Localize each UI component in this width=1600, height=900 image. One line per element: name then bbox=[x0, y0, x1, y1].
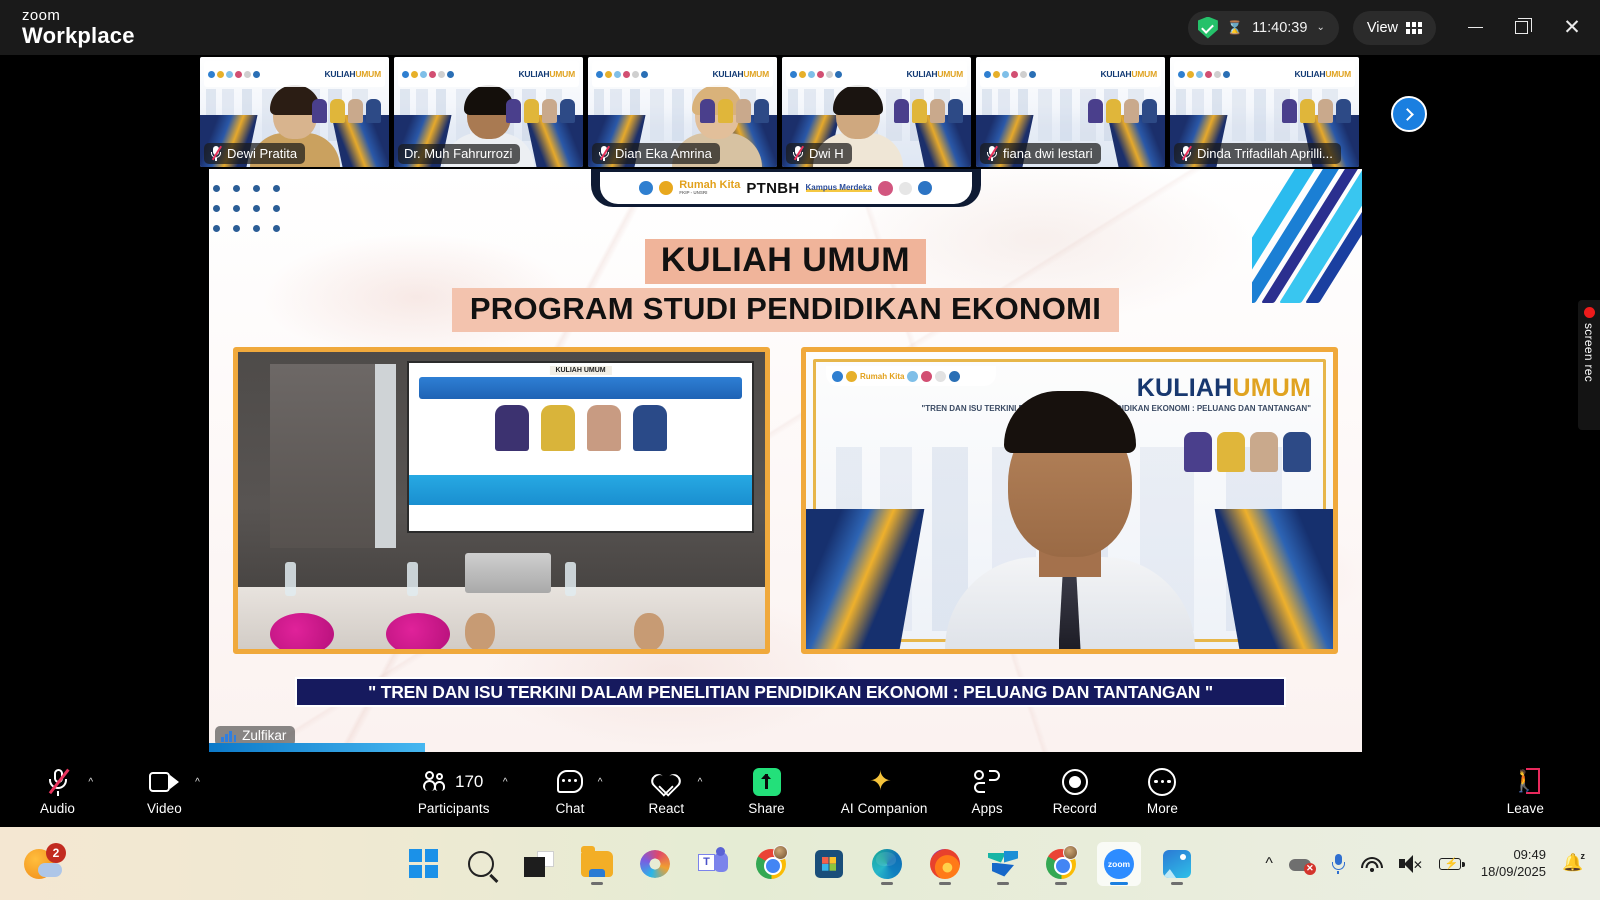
microphone-icon[interactable] bbox=[1331, 854, 1345, 874]
onedrive-error-icon[interactable]: ✕ bbox=[1289, 855, 1315, 873]
tutwuri-logo bbox=[639, 181, 653, 195]
unsri-logo bbox=[659, 181, 673, 195]
microsoft-store-button[interactable] bbox=[807, 842, 851, 886]
shared-screen-content[interactable]: Rumah Kita FKIP - UNSRI PTNBH Kampus Mer… bbox=[209, 169, 1362, 752]
screenrec-label: screen rec bbox=[1582, 323, 1596, 382]
react-options-chevron-icon[interactable]: ^ bbox=[698, 777, 703, 788]
speaker-portraits bbox=[700, 99, 769, 123]
camera-icon[interactable] bbox=[149, 767, 179, 797]
presenter-name: Zulfikar bbox=[242, 728, 286, 743]
speaker-person bbox=[940, 409, 1200, 649]
speaker-video-panel: Rumah Kita KULIAHUMUM "TREN DAN ISU TERK… bbox=[801, 347, 1338, 654]
sparkle-icon[interactable]: ✦ bbox=[869, 767, 899, 797]
slide-title-line2: PROGRAM STUDI PENDIDIKAN EKONOMI bbox=[452, 288, 1119, 332]
notification-bell-dnd-icon[interactable]: 🔔z bbox=[1562, 853, 1584, 875]
accreditation-logo bbox=[899, 182, 912, 195]
record-label: Record bbox=[1053, 801, 1097, 816]
folder-icon bbox=[581, 851, 613, 877]
dot-grid-decoration bbox=[213, 185, 293, 245]
meeting-status-pill[interactable]: ⌛ 11:40:39 ⌄ bbox=[1188, 11, 1339, 45]
speaker-portraits bbox=[1088, 99, 1157, 123]
copilot-button[interactable] bbox=[633, 842, 677, 886]
background-banner: KULIAHUMUM bbox=[204, 61, 385, 87]
ai-companion-button[interactable]: ✦ AI Companion bbox=[841, 755, 928, 827]
clock-time: 09:49 bbox=[1481, 847, 1546, 863]
photos-button[interactable] bbox=[1155, 842, 1199, 886]
flower-decoration bbox=[270, 613, 334, 654]
meeting-timer: 11:40:39 bbox=[1252, 20, 1307, 36]
participant-tile[interactable]: KULIAHUMUM fiana dwi lestari bbox=[976, 57, 1165, 167]
view-label: View bbox=[1367, 20, 1398, 36]
microphone-muted-icon bbox=[986, 145, 998, 161]
copilot-icon bbox=[640, 850, 670, 878]
chevron-right-icon bbox=[1401, 108, 1414, 121]
projector-screen: KULIAH UMUM bbox=[407, 361, 755, 533]
projector-header: KULIAH UMUM bbox=[549, 366, 611, 375]
title-bar: zoom Workplace ⌛ 11:40:39 ⌄ View ✕ bbox=[0, 0, 1600, 55]
chat-button[interactable]: Chat ^ bbox=[556, 755, 585, 827]
video-options-chevron-icon[interactable]: ^ bbox=[195, 777, 200, 788]
chat-options-chevron-icon[interactable]: ^ bbox=[598, 777, 603, 788]
filmstrip-next-page-button[interactable] bbox=[1391, 96, 1427, 132]
participant-name: Dr. Muh Fahrurrozi bbox=[404, 146, 512, 161]
ptnbh-label: PTNBH bbox=[746, 180, 799, 197]
more-button[interactable]: More bbox=[1147, 755, 1178, 827]
chrome-icon bbox=[756, 849, 786, 879]
meeting-toolbar: Audio ^ Video ^ 170 Participants ^ Chat … bbox=[0, 755, 1600, 827]
file-explorer-button[interactable] bbox=[575, 842, 619, 886]
chrome-button-1[interactable] bbox=[749, 842, 793, 886]
windows-logo-icon bbox=[409, 849, 438, 878]
record-icon[interactable] bbox=[1062, 767, 1088, 797]
firefox-button[interactable] bbox=[923, 842, 967, 886]
participants-button[interactable]: 170 Participants ^ bbox=[418, 755, 490, 827]
speaker-portraits bbox=[1184, 432, 1311, 472]
participant-filmstrip: KULIAHUMUM Dewi Pratita KULIAHUMUM bbox=[200, 57, 1373, 167]
participant-name-badge: Dinda Trifadilah Aprilli... bbox=[1174, 143, 1341, 164]
system-tray: ^ ✕ ✕ ⚡ 09:49 18/09/2025 🔔z bbox=[1265, 847, 1584, 880]
brand-workplace: Workplace bbox=[22, 24, 135, 47]
search-icon bbox=[468, 851, 494, 877]
search-button[interactable] bbox=[459, 842, 503, 886]
participant-name-badge: Dr. Muh Fahrurrozi bbox=[398, 144, 520, 164]
leave-button[interactable]: 🚶 Leave bbox=[1507, 755, 1544, 827]
onedrive-error-badge: ✕ bbox=[1304, 863, 1316, 875]
video-button[interactable]: Video ^ bbox=[147, 755, 182, 827]
slide-quote-text: " TREN DAN ISU TERKINI DALAM PENELITIAN … bbox=[368, 682, 1213, 703]
hourglass-icon: ⌛ bbox=[1227, 20, 1243, 36]
microphone-muted-icon bbox=[1180, 145, 1192, 161]
participant-name: Dinda Trifadilah Aprilli... bbox=[1197, 146, 1333, 161]
flower-decoration bbox=[386, 613, 450, 654]
participant-name: Dian Eka Amrina bbox=[615, 146, 712, 161]
start-button[interactable] bbox=[401, 842, 445, 886]
wifi-icon[interactable] bbox=[1361, 855, 1383, 872]
clock[interactable]: 09:49 18/09/2025 bbox=[1481, 847, 1546, 880]
background-banner: KULIAHUMUM bbox=[786, 61, 967, 87]
record-dot-icon bbox=[1584, 307, 1595, 318]
shield-check-icon[interactable] bbox=[1198, 17, 1218, 39]
people-icon bbox=[424, 771, 448, 793]
ellipsis-icon[interactable] bbox=[1148, 767, 1176, 797]
participant-name: Dewi Pratita bbox=[227, 146, 297, 161]
chat-bubble-icon[interactable] bbox=[557, 767, 583, 797]
participant-name-badge: fiana dwi lestari bbox=[980, 143, 1101, 164]
quality-logo bbox=[878, 181, 893, 196]
record-button[interactable]: Record bbox=[1053, 755, 1097, 827]
participant-name: Dwi H bbox=[809, 146, 844, 161]
audio-bars-icon bbox=[221, 730, 236, 742]
microsoft-store-icon bbox=[815, 850, 843, 878]
leave-label: Leave bbox=[1507, 801, 1544, 816]
close-button[interactable]: ✕ bbox=[1544, 0, 1600, 55]
participants-options-chevron-icon[interactable]: ^ bbox=[503, 777, 508, 788]
firefox-icon bbox=[930, 849, 960, 879]
speaker-portraits bbox=[506, 99, 575, 123]
umum-text: UMUM bbox=[1232, 374, 1311, 402]
apps-label: Apps bbox=[972, 801, 1003, 816]
apps-icon[interactable] bbox=[973, 767, 1001, 797]
react-button[interactable]: React ^ bbox=[648, 755, 684, 827]
zoom-taskbar-button[interactable]: zoom bbox=[1097, 842, 1141, 886]
participant-tile[interactable]: KULIAHUMUM Dr. Muh Fahrurrozi bbox=[394, 57, 583, 167]
participants-label: Participants bbox=[418, 801, 490, 816]
participant-name-badge: Dewi Pratita bbox=[204, 143, 305, 164]
kuliah-text: KULIAH bbox=[1137, 374, 1233, 402]
microphone-muted-icon bbox=[210, 145, 222, 161]
clock-date: 18/09/2025 bbox=[1481, 864, 1546, 880]
avatar bbox=[1063, 845, 1078, 860]
view-button[interactable]: View bbox=[1353, 11, 1436, 45]
chevron-down-icon[interactable]: ⌄ bbox=[1316, 22, 1324, 33]
avatar bbox=[773, 845, 788, 860]
slide-panels: KULIAH UMUM bbox=[233, 347, 1338, 654]
battery-charging-icon[interactable]: ⚡ bbox=[1439, 856, 1465, 872]
grid-layout-icon[interactable] bbox=[1406, 22, 1422, 34]
leave-door-icon[interactable]: 🚶 bbox=[1510, 767, 1540, 797]
weather-badge: 2 bbox=[46, 843, 66, 863]
chrome-button-2[interactable] bbox=[1039, 842, 1083, 886]
microphone-muted-icon bbox=[792, 145, 804, 161]
speaker-muted-icon[interactable]: ✕ bbox=[1399, 855, 1423, 873]
kampus-merdeka-logo: Kampus Merdeka bbox=[806, 184, 872, 192]
zoom-icon: zoom bbox=[1104, 849, 1134, 879]
share-label: Share bbox=[748, 801, 785, 816]
microphone-muted-icon bbox=[598, 145, 610, 161]
rumah-kita-logo: Rumah Kita FKIP - UNSRI bbox=[679, 181, 740, 195]
title-bar-right: ⌛ 11:40:39 ⌄ View ✕ bbox=[1188, 0, 1600, 55]
speaker-portraits bbox=[312, 99, 381, 123]
teams-icon: T bbox=[698, 850, 728, 878]
maximize-button[interactable] bbox=[1498, 0, 1544, 55]
blue-app-button[interactable] bbox=[981, 842, 1025, 886]
audio-options-chevron-icon[interactable]: ^ bbox=[88, 777, 93, 788]
chrome-icon bbox=[1046, 849, 1076, 879]
teams-letter: T bbox=[698, 854, 715, 871]
zoom-logo: zoom Workplace bbox=[0, 8, 135, 47]
slide-title: KULIAH UMUM PROGRAM STUDI PENDIDIKAN EKO… bbox=[209, 239, 1362, 332]
teams-button[interactable]: T bbox=[691, 842, 735, 886]
speaker-portraits bbox=[1282, 99, 1351, 123]
background-banner: KULIAHUMUM bbox=[398, 61, 579, 87]
participant-tile[interactable]: KULIAHUMUM Dwi H bbox=[782, 57, 971, 167]
participant-tile[interactable]: KULIAHUMUM Dinda Trifadilah Aprilli... bbox=[1170, 57, 1359, 167]
share-button[interactable]: Share bbox=[748, 755, 785, 827]
windows-taskbar: 2 T bbox=[0, 827, 1600, 900]
background-banner: KULIAHUMUM bbox=[1174, 61, 1355, 87]
heart-icon[interactable] bbox=[654, 767, 678, 797]
edge-button[interactable] bbox=[865, 842, 909, 886]
room-photo: KULIAH UMUM bbox=[238, 352, 765, 649]
participant-tile[interactable]: KULIAHUMUM Dian Eka Amrina bbox=[588, 57, 777, 167]
room-photo-panel: KULIAH UMUM bbox=[233, 347, 770, 654]
edge-icon bbox=[872, 849, 902, 879]
laptop bbox=[465, 553, 551, 593]
screen-share-edge-highlight bbox=[209, 743, 425, 752]
institution-logo-bar: Rumah Kita FKIP - UNSRI PTNBH Kampus Mer… bbox=[591, 169, 981, 207]
photos-icon bbox=[1163, 850, 1191, 878]
brand-zoom: zoom bbox=[22, 8, 135, 24]
more-label: More bbox=[1147, 801, 1178, 816]
rumah-kita-label: Rumah Kita bbox=[860, 372, 904, 381]
task-view-button[interactable] bbox=[517, 842, 561, 886]
speaker-portraits bbox=[894, 99, 963, 123]
background-banner: KULIAHUMUM bbox=[592, 61, 773, 87]
background-banner: KULIAHUMUM bbox=[980, 61, 1161, 87]
weather-widget[interactable]: 2 bbox=[24, 849, 54, 879]
ai-companion-label: AI Companion bbox=[841, 801, 928, 816]
video-label: Video bbox=[147, 801, 182, 816]
participant-name-badge: Dwi H bbox=[786, 143, 852, 164]
slide-title-line1: KULIAH UMUM bbox=[645, 239, 926, 284]
microphone-muted-icon[interactable] bbox=[47, 767, 69, 797]
share-screen-icon[interactable] bbox=[753, 767, 781, 797]
speaker-video: Rumah Kita KULIAHUMUM "TREN DAN ISU TERK… bbox=[806, 352, 1333, 649]
participant-tile[interactable]: KULIAHUMUM Dewi Pratita bbox=[200, 57, 389, 167]
chevron-up-icon[interactable]: ^ bbox=[1265, 855, 1273, 873]
participant-name: fiana dwi lestari bbox=[1003, 146, 1093, 161]
participant-name-badge: Dian Eka Amrina bbox=[592, 143, 720, 164]
screenrec-watermark[interactable]: screen rec bbox=[1578, 300, 1600, 430]
slide-quote-banner: " TREN DAN ISU TERKINI DALAM PENELITIAN … bbox=[295, 677, 1286, 707]
audio-label: Audio bbox=[40, 801, 75, 816]
participants-count: 170 bbox=[455, 772, 483, 792]
taskbar-apps: T zoom bbox=[401, 842, 1199, 886]
minimize-button[interactable] bbox=[1452, 0, 1498, 55]
react-label: React bbox=[648, 801, 684, 816]
blue-app-icon bbox=[988, 851, 1018, 877]
task-view-icon bbox=[524, 851, 554, 877]
asean-logo bbox=[918, 181, 932, 195]
chat-label: Chat bbox=[556, 801, 585, 816]
audio-button[interactable]: Audio ^ bbox=[40, 755, 75, 827]
apps-button[interactable]: Apps bbox=[972, 755, 1003, 827]
